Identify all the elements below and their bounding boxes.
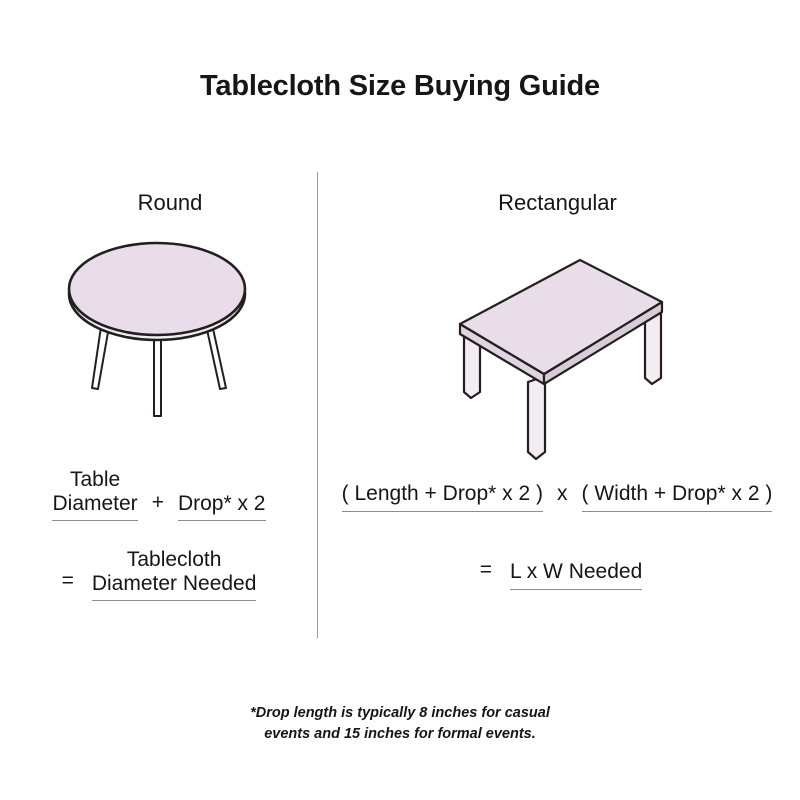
- round-result-value: Tablecloth Diameter Needed: [92, 548, 257, 601]
- round-term-line-2: Diameter: [52, 492, 137, 516]
- round-result-line-2: Diameter Needed: [92, 572, 257, 596]
- footnote-line-2: events and 15 inches for formal events.: [150, 724, 650, 745]
- column-heading-rectangular: Rectangular: [420, 190, 695, 216]
- infographic-page: Tablecloth Size Buying Guide Round Table…: [0, 0, 800, 800]
- page-title: Tablecloth Size Buying Guide: [0, 70, 800, 103]
- round-table-illustration: [60, 228, 280, 433]
- rect-equals-sign: =: [480, 558, 510, 590]
- rect-term-length: ( Length + Drop* x 2 ): [342, 482, 543, 512]
- round-operator-plus: +: [138, 491, 178, 521]
- round-term-drop: Drop* x 2: [178, 492, 266, 522]
- footnote: *Drop length is typically 8 inches for c…: [150, 703, 650, 745]
- round-equals-sign: =: [62, 569, 92, 601]
- column-divider: [317, 172, 318, 638]
- column-heading-round: Round: [60, 190, 280, 216]
- rectangular-table-illustration: [440, 240, 690, 465]
- round-formula-row: Table Diameter + Drop* x 2: [18, 468, 300, 521]
- round-term-line-1: Table: [52, 468, 137, 492]
- rect-result-value: L x W Needed: [510, 560, 642, 590]
- rectangular-formula-row: ( Length + Drop* x 2 ) x ( Width + Drop*…: [326, 482, 788, 512]
- rect-term-width: ( Width + Drop* x 2 ): [582, 482, 773, 512]
- rectangular-result-row: = L x W Needed: [430, 558, 692, 590]
- round-result-row: = Tablecloth Diameter Needed: [18, 548, 300, 601]
- rect-operator-times: x: [543, 482, 582, 512]
- round-term-table-diameter: Table Diameter: [52, 468, 137, 521]
- round-result-line-1: Tablecloth: [92, 548, 257, 572]
- footnote-line-1: *Drop length is typically 8 inches for c…: [150, 703, 650, 724]
